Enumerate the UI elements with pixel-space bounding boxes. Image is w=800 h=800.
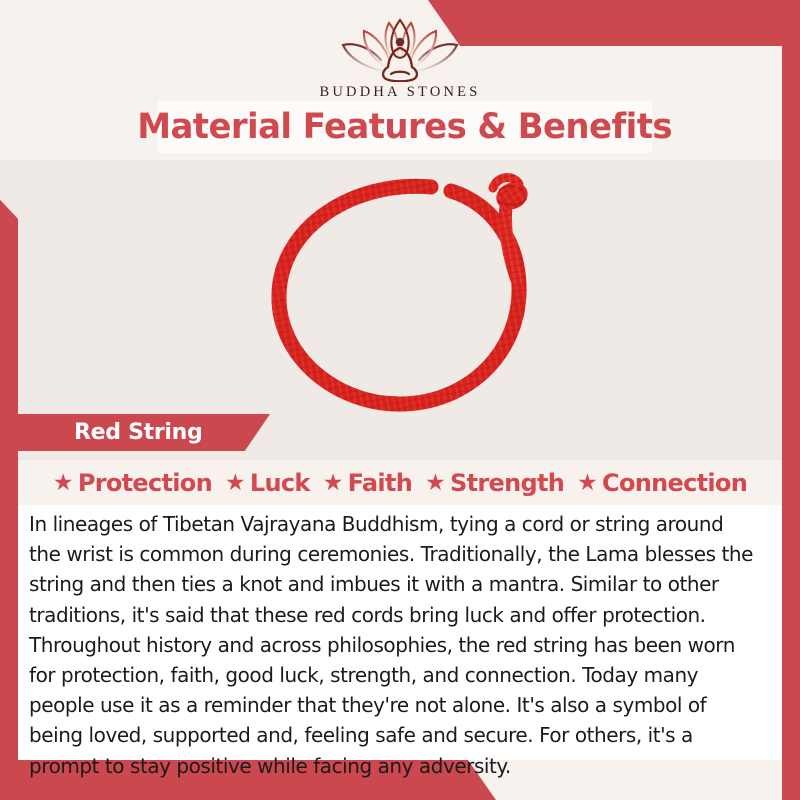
benefit-label: Connection — [602, 469, 747, 497]
page-title: Material Features & Benefits — [138, 107, 673, 147]
star-icon: ★ — [323, 472, 343, 495]
benefit-item-strength: ★ Strength — [425, 469, 564, 497]
star-icon: ★ — [53, 472, 73, 495]
benefit-label: Strength — [450, 469, 564, 497]
benefits-list: ★ Protection ★ Luck ★ Faith ★ Strength ★… — [18, 463, 782, 503]
star-icon: ★ — [225, 472, 245, 495]
benefit-label: Luck — [250, 469, 310, 497]
product-feature-poster: BUDDHA STONES Material Features & Benefi… — [0, 0, 800, 800]
benefit-item-connection: ★ Connection — [577, 469, 747, 497]
material-name: Red String — [74, 420, 202, 445]
left-vertical-bar-upper — [0, 186, 18, 460]
star-icon: ★ — [425, 472, 445, 495]
benefit-item-protection: ★ Protection — [53, 469, 212, 497]
star-icon: ★ — [577, 472, 597, 495]
brand-name: BUDDHA STONES — [320, 84, 481, 101]
red-string-bracelet-illustration — [235, 160, 565, 422]
description-text: In lineages of Tibetan Vajrayana Buddhis… — [29, 509, 753, 781]
description-card: In lineages of Tibetan Vajrayana Buddhis… — [18, 505, 782, 760]
product-image — [18, 160, 782, 422]
brand-logo: BUDDHA STONES — [0, 14, 800, 101]
right-vertical-bar — [782, 0, 800, 800]
lotus-meditation-icon — [325, 14, 475, 82]
page-title-band: Material Features & Benefits — [158, 101, 652, 153]
benefit-label: Protection — [78, 469, 212, 497]
benefit-item-faith: ★ Faith — [323, 469, 412, 497]
benefit-label: Faith — [348, 469, 412, 497]
benefit-item-luck: ★ Luck — [225, 469, 310, 497]
material-ribbon: Red String — [18, 414, 270, 451]
left-vertical-bar-lower — [0, 440, 18, 800]
